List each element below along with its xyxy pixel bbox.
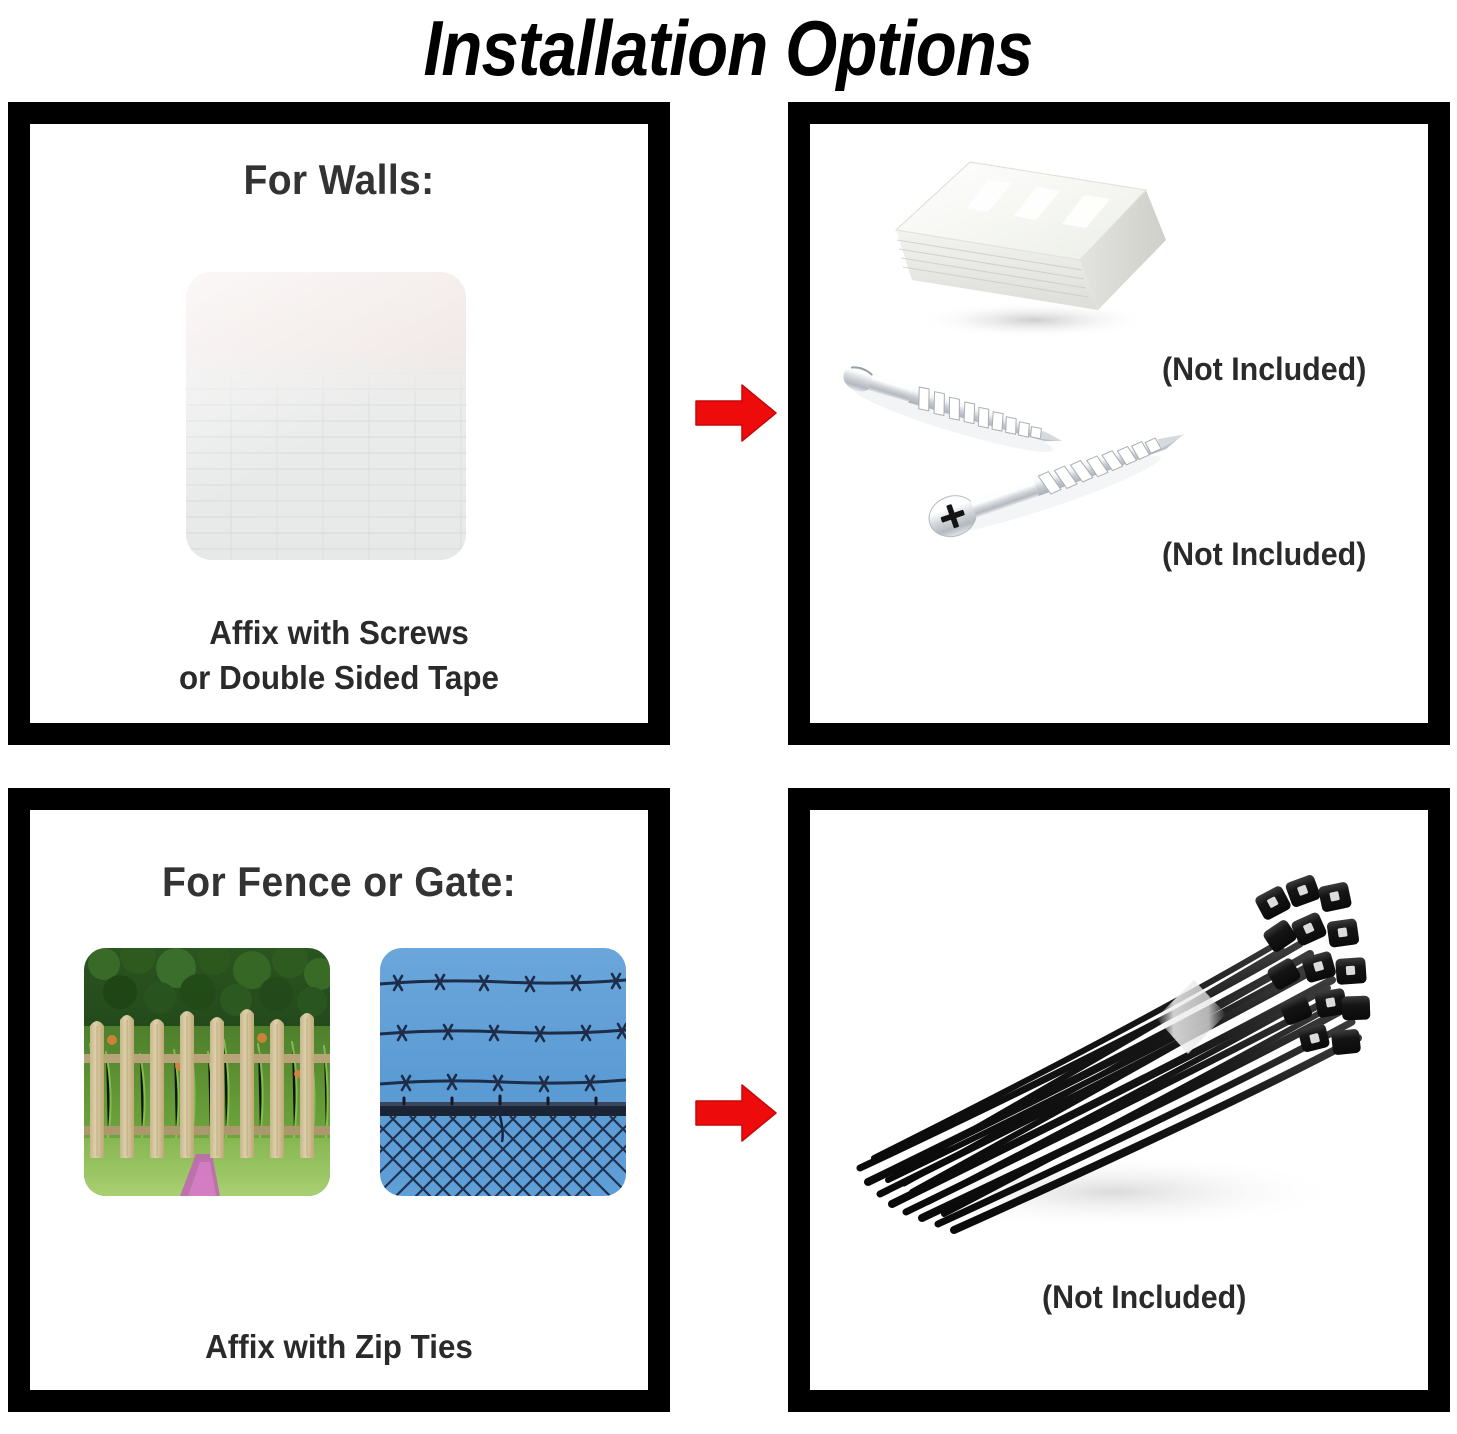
panel-zip-ties: (Not Included) (788, 788, 1450, 1412)
page-title: Installation Options (424, 9, 1033, 87)
panel-for-walls-content: For Walls: Affix with Screws or Double S… (30, 124, 648, 723)
panel-for-walls: For Walls: Affix with Screws or Double S… (8, 102, 670, 745)
red-right-arrow-icon-bottom (692, 1081, 780, 1145)
heading-for-fence-or-gate: For Fence or Gate: (52, 858, 627, 906)
caption-line-1: Affix with Screws (45, 610, 632, 656)
picket-fence-photo (84, 948, 330, 1196)
panel-for-fence-or-gate: For Fence or Gate: (8, 788, 670, 1412)
heading-for-walls: For Walls: (52, 156, 627, 204)
caption-for-walls: Affix with Screws or Double Sided Tape (45, 610, 632, 701)
page-title-bar: Installation Options (0, 0, 1457, 96)
wall-highlight (186, 272, 466, 560)
panel-hardware: (Not Included) (788, 102, 1450, 745)
screws-not-included-label: (Not Included) (1162, 536, 1366, 573)
caption-line-2: or Double Sided Tape (45, 655, 632, 701)
barbed-wire-fence-photo (380, 948, 626, 1196)
panel-zip-ties-content: (Not Included) (810, 810, 1428, 1390)
wood-screws-icon (834, 346, 1214, 546)
white-brick-wall-image (186, 272, 466, 560)
red-right-arrow-icon-top (692, 381, 780, 445)
black-zip-ties-bundle-icon (834, 862, 1374, 1262)
double-sided-tape-stack-icon (884, 152, 1180, 342)
panel-hardware-content: (Not Included) (810, 124, 1428, 723)
zip-ties-not-included-label: (Not Included) (1042, 1279, 1246, 1316)
caption-for-fence: Affix with Zip Ties (45, 1324, 632, 1370)
panel-for-fence-content: For Fence or Gate: (30, 810, 648, 1390)
